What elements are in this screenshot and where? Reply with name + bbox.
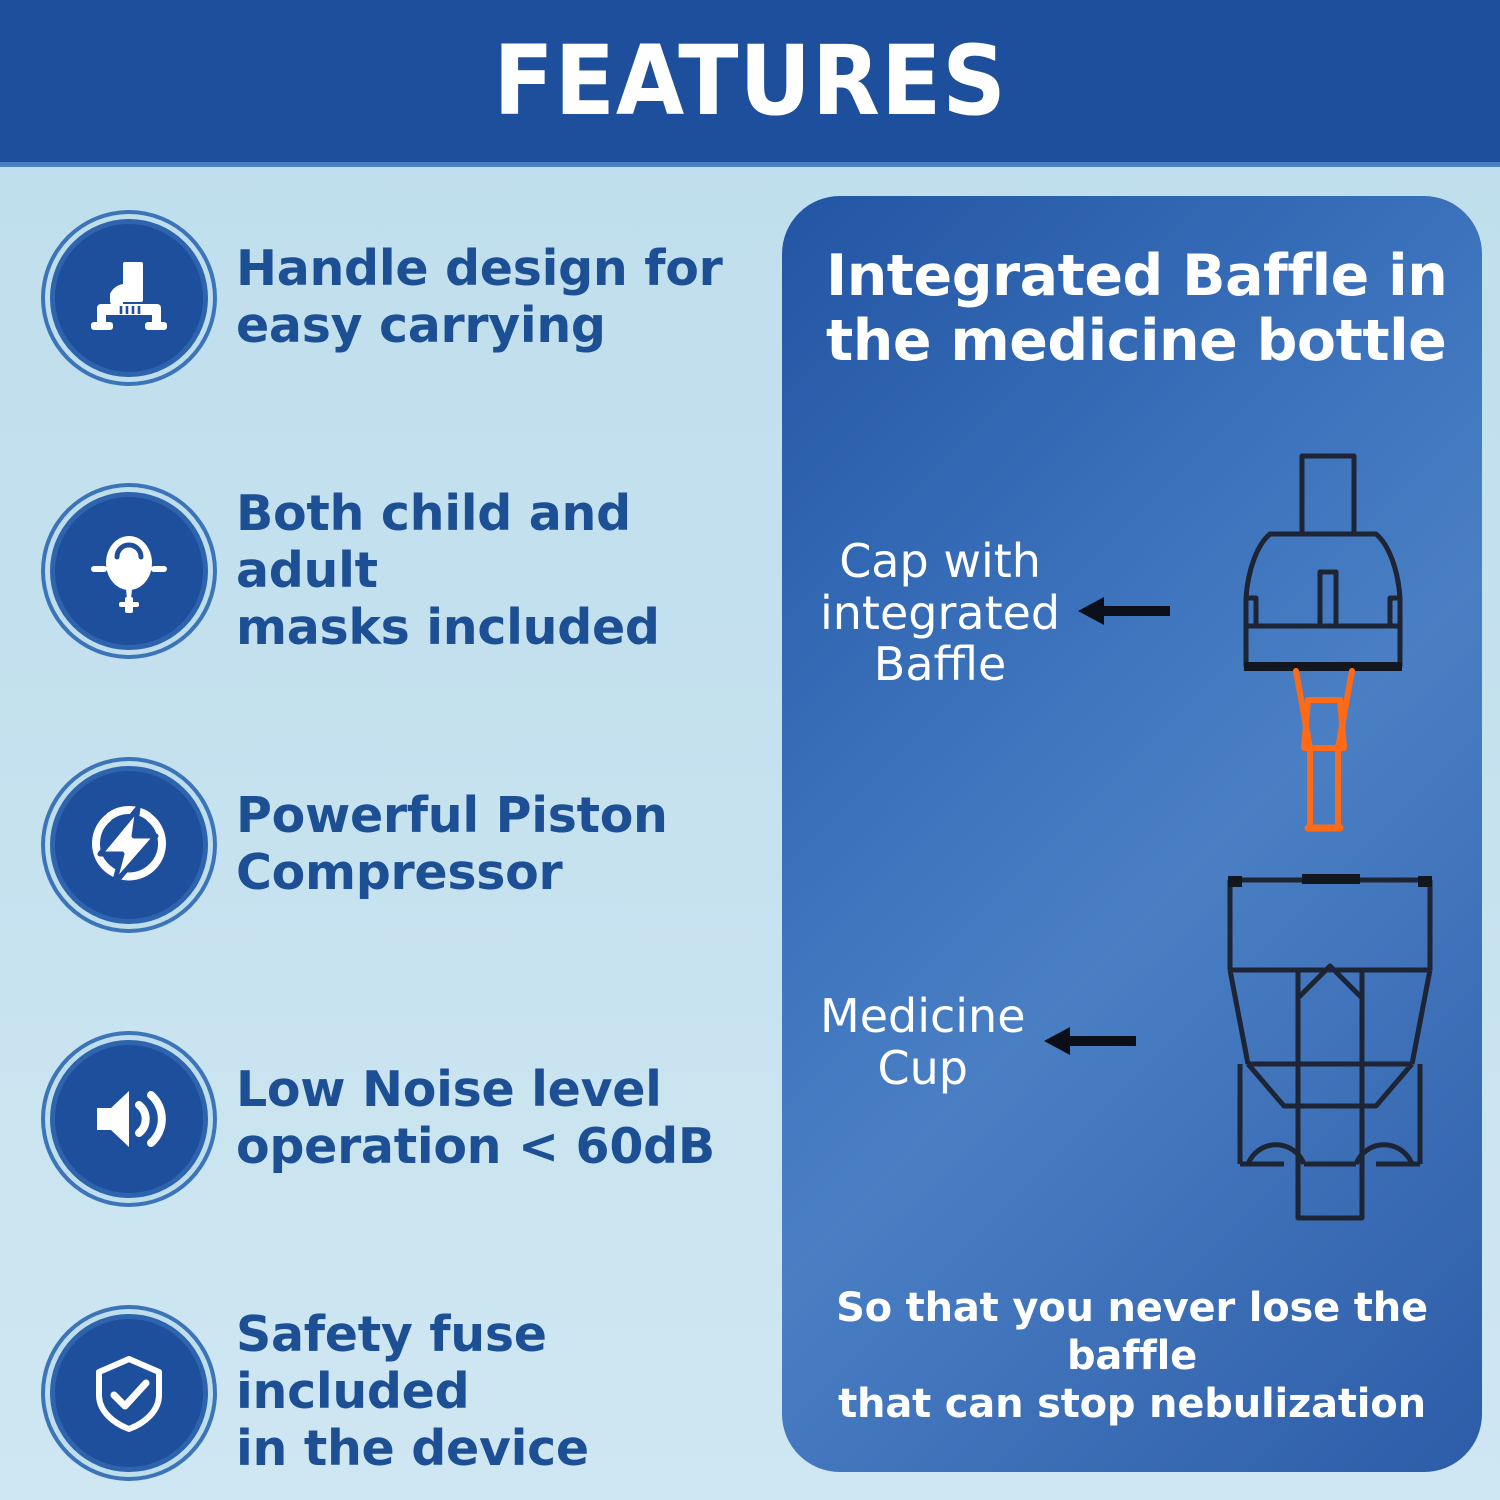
feature-item-compressor: Powerful Piston Compressor (50, 758, 750, 933)
feature-label-compressor-line1: Powerful Piston (236, 787, 668, 844)
feature-label-handle: Handle design for easy carrying (236, 241, 722, 355)
features-list: Handle design for easy carrying (50, 210, 750, 1480)
feature-label-noise-line2: operation < 60dB (236, 1118, 715, 1175)
feature-item-handle: Handle design for easy carrying (50, 210, 750, 385)
callout-label-cap-line2: integrated (820, 586, 1060, 640)
hand-handle-icon (50, 219, 208, 377)
feature-label-noise-line1: Low Noise level (236, 1061, 662, 1118)
feature-item-safety: Safety fuse included in the device (50, 1305, 750, 1480)
callout-label-cup-line1: Medicine (820, 989, 1026, 1043)
callout-label-cup: Medicine Cup (820, 991, 1026, 1094)
feature-label-masks: Both child and adult masks included (236, 486, 750, 656)
panel-title: Integrated Baffle in the medicine bottle (826, 244, 1466, 374)
panel-caption-line1: So that you never lose the baffle (836, 1285, 1428, 1379)
arrow-left-icon (1078, 593, 1170, 633)
callout-label-cap: Cap with integrated Baffle (820, 536, 1060, 691)
callout-cap-with-baffle: Cap with integrated Baffle (820, 536, 1250, 691)
callout-label-cup-line2: Cup (878, 1041, 968, 1095)
feature-label-masks-line1: Both child and adult (236, 485, 631, 599)
feature-label-masks-line2: masks included (236, 599, 660, 656)
header-divider (0, 162, 1500, 167)
infographic-page: FEATURES (0, 0, 1500, 1500)
feature-label-noise: Low Noise level operation < 60dB (236, 1062, 715, 1176)
feature-label-compressor-line2: Compressor (236, 844, 562, 901)
feature-label-safety: Safety fuse included in the device (236, 1307, 750, 1477)
panel-title-line2: the medicine bottle (826, 308, 1446, 374)
header-banner: FEATURES (0, 0, 1500, 162)
panel-caption: So that you never lose the baffle that c… (808, 1284, 1456, 1428)
feature-label-safety-line1: Safety fuse included (236, 1306, 547, 1420)
feature-label-compressor: Powerful Piston Compressor (236, 788, 668, 902)
arrow-left-icon (1044, 1023, 1136, 1063)
nebulizer-mask-icon (50, 492, 208, 650)
page-title: FEATURES (493, 33, 1006, 129)
callout-medicine-cup: Medicine Cup (820, 991, 1250, 1094)
callout-label-cap-line1: Cap with (839, 534, 1041, 588)
callout-label-cap-line3: Baffle (874, 637, 1007, 691)
shield-check-icon (50, 1314, 208, 1472)
feature-label-handle-line1: Handle design for (236, 240, 722, 297)
feature-label-handle-line2: easy carrying (236, 297, 606, 354)
panel-title-line1: Integrated Baffle in (826, 243, 1447, 309)
baffle-panel: Integrated Baffle in the medicine bottle (782, 196, 1482, 1472)
feature-item-noise: Low Noise level operation < 60dB (50, 1031, 750, 1206)
speaker-volume-icon (50, 1040, 208, 1198)
feature-item-masks: Both child and adult masks included (50, 484, 750, 659)
lightning-bolt-icon (50, 766, 208, 924)
feature-label-safety-line2: in the device (236, 1420, 589, 1477)
panel-caption-line2: that can stop nebulization (838, 1381, 1426, 1427)
